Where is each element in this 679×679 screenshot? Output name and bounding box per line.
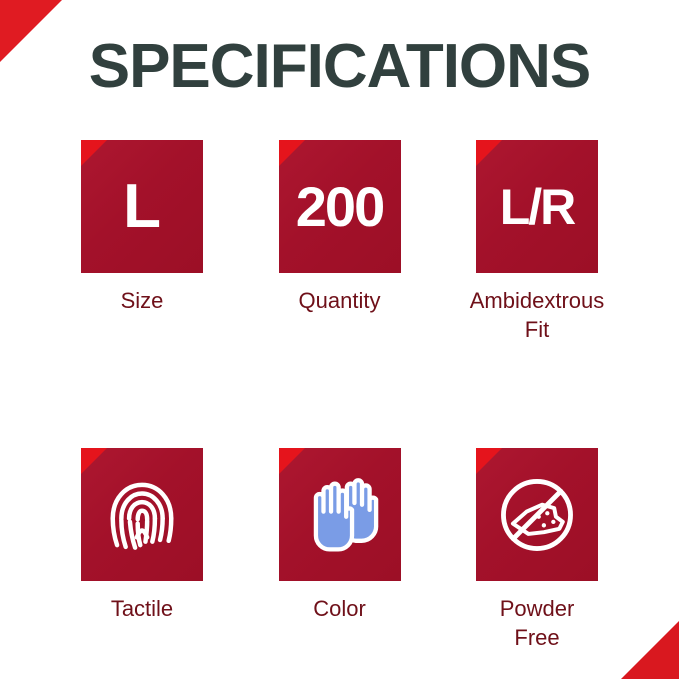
gloves-icon bbox=[297, 472, 383, 558]
specs-grid: L Size 200 Quantity L/R bbox=[52, 140, 627, 652]
spec-item-color: Color bbox=[250, 448, 430, 624]
spec-item-tactile: Tactile bbox=[52, 448, 232, 624]
spec-label-tactile: Tactile bbox=[111, 595, 173, 624]
spec-tile-tactile bbox=[81, 448, 203, 581]
specs-row-2: Tactile Color bbox=[52, 448, 627, 652]
spec-label-line: Powder bbox=[500, 595, 575, 624]
spec-label-quantity: Quantity bbox=[299, 287, 381, 316]
spec-item-size: L Size bbox=[52, 140, 232, 316]
tile-corner-notch-icon bbox=[81, 140, 107, 166]
spec-tile-value-ambidextrous-fit: L/R bbox=[500, 182, 575, 232]
spec-tile-ambidextrous-fit: L/R bbox=[476, 140, 598, 273]
spec-tile-size: L bbox=[81, 140, 203, 273]
spec-label-line: Quantity bbox=[299, 287, 381, 316]
tile-corner-notch-icon bbox=[279, 448, 305, 474]
tile-corner-notch-icon bbox=[81, 448, 107, 474]
tile-corner-notch-icon bbox=[279, 140, 305, 166]
spec-label-line: Color bbox=[313, 595, 366, 624]
no-powder-icon bbox=[494, 472, 580, 558]
spec-label-line: Ambidextrous bbox=[470, 287, 605, 316]
spec-tile-value-quantity: 200 bbox=[296, 179, 383, 235]
spec-label-line: Tactile bbox=[111, 595, 173, 624]
spec-label-powder-free: Powder Free bbox=[500, 595, 575, 652]
tile-corner-notch-icon bbox=[476, 140, 502, 166]
spec-label-line: Free bbox=[500, 624, 575, 653]
fingerprint-icon bbox=[99, 472, 185, 558]
spec-item-powder-free: Powder Free bbox=[447, 448, 627, 652]
page-title: SPECIFICATIONS bbox=[0, 36, 679, 98]
spec-item-quantity: 200 Quantity bbox=[250, 140, 430, 316]
specifications-infographic: SPECIFICATIONS L Size 200 Quantity bbox=[0, 0, 679, 679]
bottom-right-corner-accent bbox=[621, 621, 679, 679]
tile-corner-notch-icon bbox=[476, 448, 502, 474]
spec-label-line: Fit bbox=[470, 316, 605, 345]
spec-tile-color bbox=[279, 448, 401, 581]
spec-tile-quantity: 200 bbox=[279, 140, 401, 273]
spec-tile-value-size: L bbox=[123, 176, 161, 238]
spec-label-line: Size bbox=[121, 287, 164, 316]
spec-label-ambidextrous-fit: Ambidextrous Fit bbox=[470, 287, 605, 344]
spec-tile-powder-free bbox=[476, 448, 598, 581]
spec-label-size: Size bbox=[121, 287, 164, 316]
spec-label-color: Color bbox=[313, 595, 366, 624]
specs-row-1: L Size 200 Quantity L/R bbox=[52, 140, 627, 344]
spec-item-ambidextrous-fit: L/R Ambidextrous Fit bbox=[447, 140, 627, 344]
